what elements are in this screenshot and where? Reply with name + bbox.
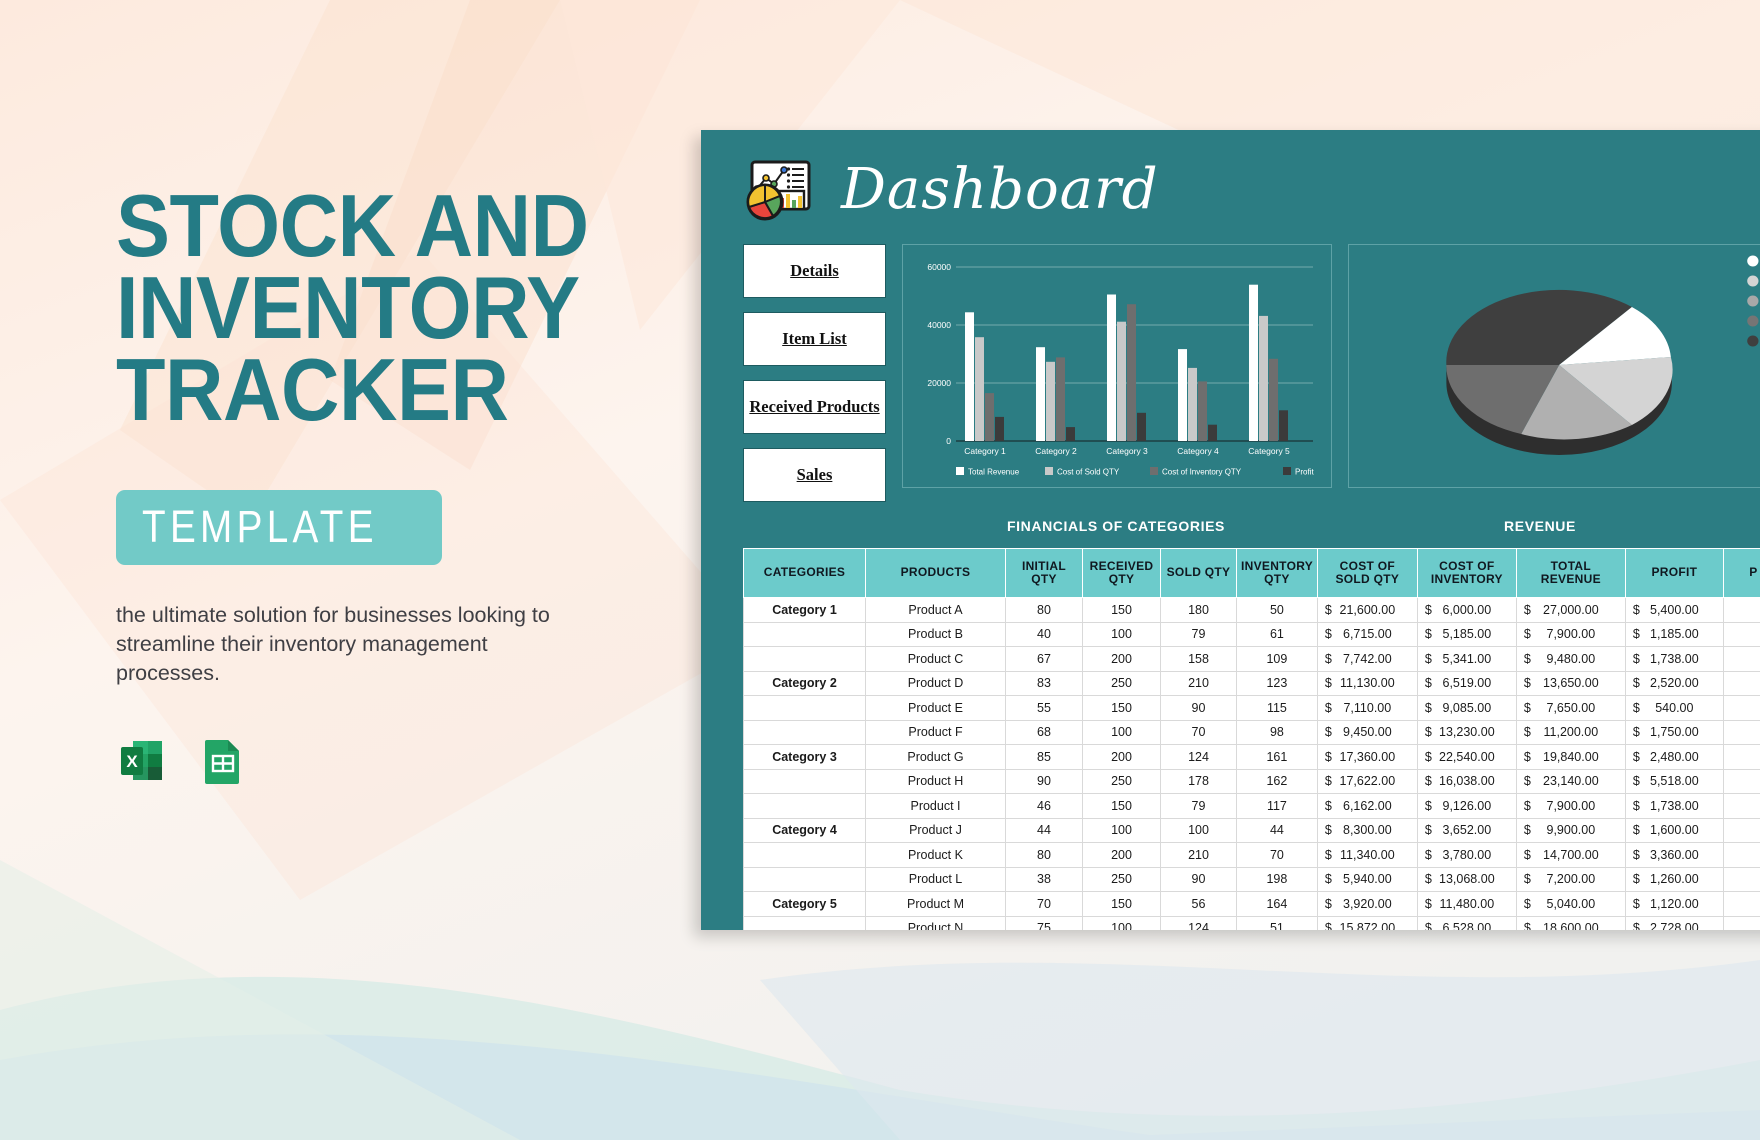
- chart-captions: FINANCIALS OF CATEGORIES REVENUE: [701, 502, 1760, 536]
- cell-sold-qty: 210: [1161, 843, 1237, 868]
- cell-received-qty: 150: [1083, 794, 1161, 819]
- dashboard-title: Dashboard: [841, 162, 1159, 218]
- cell-product: Product C: [866, 647, 1006, 672]
- cell-received-qty: 150: [1083, 598, 1161, 623]
- format-logos: X: [116, 735, 676, 787]
- table-row: Product K8020021070$11,340.00$3,780.00$1…: [744, 843, 1760, 868]
- cell-received-qty: 200: [1083, 843, 1161, 868]
- svg-text:Category 3: Category 3: [1106, 446, 1148, 456]
- cell-initial-qty: 46: [1006, 794, 1083, 819]
- cell-profit: $1,120.00: [1625, 892, 1723, 917]
- cell-sold-qty: 70: [1161, 720, 1237, 745]
- col-cost-of-sold-qty: COST OF SOLD QTY: [1317, 549, 1417, 598]
- cell-cost-of-inventory: $9,085.00: [1417, 696, 1516, 721]
- cell-inventory-qty: 162: [1237, 769, 1318, 794]
- cell-cost-of-sold-qty: $21,600.00: [1317, 598, 1417, 623]
- cell-profit: $1,750.00: [1625, 720, 1723, 745]
- cell-initial-qty: 40: [1006, 622, 1083, 647]
- cell-partial: [1723, 622, 1760, 647]
- col-sold-qty: SOLD QTY: [1161, 549, 1237, 598]
- cell-total-revenue: $23,140.00: [1516, 769, 1625, 794]
- svg-text:40000: 40000: [927, 320, 951, 330]
- cell-initial-qty: 67: [1006, 647, 1083, 672]
- cell-category: [744, 867, 866, 892]
- cell-total-revenue: $7,900.00: [1516, 622, 1625, 647]
- cell-cost-of-sold-qty: $9,450.00: [1317, 720, 1417, 745]
- cell-partial: [1723, 843, 1760, 868]
- svg-text:Total Revenue: Total Revenue: [968, 468, 1020, 477]
- cell-sold-qty: 90: [1161, 696, 1237, 721]
- cell-inventory-qty: 44: [1237, 818, 1318, 843]
- svg-text:Profit: Profit: [1295, 468, 1314, 477]
- cell-category: [744, 843, 866, 868]
- cell-initial-qty: 90: [1006, 769, 1083, 794]
- cell-inventory-qty: 51: [1237, 916, 1318, 930]
- cell-received-qty: 150: [1083, 892, 1161, 917]
- cell-profit: $1,600.00: [1625, 818, 1723, 843]
- cell-cost-of-inventory: $5,341.00: [1417, 647, 1516, 672]
- table-row: Product C67200158109$7,742.00$5,341.00$9…: [744, 647, 1760, 672]
- cell-cost-of-inventory: $11,480.00: [1417, 892, 1516, 917]
- cell-profit: $1,738.00: [1625, 794, 1723, 819]
- cell-sold-qty: 124: [1161, 745, 1237, 770]
- cell-sold-qty: 158: [1161, 647, 1237, 672]
- cell-profit: $1,185.00: [1625, 622, 1723, 647]
- cell-category: [744, 647, 866, 672]
- col-partial: P: [1723, 549, 1760, 598]
- page-title-line-3: TRACKER: [116, 340, 509, 439]
- cell-total-revenue: $19,840.00: [1516, 745, 1625, 770]
- nav-button-received-products[interactable]: Received Products: [743, 380, 886, 434]
- cell-product: Product B: [866, 622, 1006, 647]
- cell-sold-qty: 100: [1161, 818, 1237, 843]
- cell-partial: [1723, 696, 1760, 721]
- cell-inventory-qty: 50: [1237, 598, 1318, 623]
- cell-partial: [1723, 598, 1760, 623]
- cell-category: Category 3: [744, 745, 866, 770]
- cell-total-revenue: $14,700.00: [1516, 843, 1625, 868]
- col-profit: PROFIT: [1625, 549, 1723, 598]
- svg-text:Category 2: Category 2: [1035, 446, 1077, 456]
- cell-partial: [1723, 916, 1760, 930]
- cell-cost-of-sold-qty: $3,920.00: [1317, 892, 1417, 917]
- cell-total-revenue: $7,200.00: [1516, 867, 1625, 892]
- cell-sold-qty: 124: [1161, 916, 1237, 930]
- cell-cost-of-sold-qty: $15,872.00: [1317, 916, 1417, 930]
- cell-cost-of-sold-qty: $5,940.00: [1317, 867, 1417, 892]
- cell-initial-qty: 85: [1006, 745, 1083, 770]
- cell-inventory-qty: 164: [1237, 892, 1318, 917]
- cell-initial-qty: 68: [1006, 720, 1083, 745]
- cell-total-revenue: $7,650.00: [1516, 696, 1625, 721]
- col-total-revenue: TOTAL REVENUE: [1516, 549, 1625, 598]
- cell-cost-of-sold-qty: $7,110.00: [1317, 696, 1417, 721]
- cell-cost-of-inventory: $22,540.00: [1417, 745, 1516, 770]
- svg-text:Category 5: Category 5: [1248, 446, 1290, 456]
- table-row: Category 4Product J4410010044$8,300.00$3…: [744, 818, 1760, 843]
- cell-received-qty: 250: [1083, 769, 1161, 794]
- cell-cost-of-inventory: $6,000.00: [1417, 598, 1516, 623]
- cell-inventory-qty: 115: [1237, 696, 1318, 721]
- cell-total-revenue: $13,650.00: [1516, 671, 1625, 696]
- bar-chart: 60000 40000 20000 0: [903, 245, 1331, 487]
- cell-received-qty: 250: [1083, 867, 1161, 892]
- cell-category: Category 2: [744, 671, 866, 696]
- bar-chart-panel: 60000 40000 20000 0: [902, 244, 1332, 488]
- pie-chart-panel: Ca Ca Ca Ca Ca: [1348, 244, 1760, 488]
- cell-received-qty: 250: [1083, 671, 1161, 696]
- cell-cost-of-sold-qty: $6,715.00: [1317, 622, 1417, 647]
- table-body: Category 1Product A8015018050$21,600.00$…: [744, 598, 1760, 931]
- cell-received-qty: 100: [1083, 622, 1161, 647]
- cell-category: [744, 769, 866, 794]
- col-products: PRODUCTS: [866, 549, 1006, 598]
- cell-category: Category 4: [744, 818, 866, 843]
- cell-cost-of-sold-qty: $17,360.00: [1317, 745, 1417, 770]
- dashboard-analytics-icon: [743, 156, 815, 224]
- cell-partial: [1723, 794, 1760, 819]
- cell-total-revenue: $27,000.00: [1516, 598, 1625, 623]
- cell-initial-qty: 80: [1006, 843, 1083, 868]
- cell-total-revenue: $9,480.00: [1516, 647, 1625, 672]
- cell-product: Product D: [866, 671, 1006, 696]
- cell-partial: [1723, 720, 1760, 745]
- nav-button-sales[interactable]: Sales: [743, 448, 886, 502]
- cell-profit: $2,520.00: [1625, 671, 1723, 696]
- cell-product: Product G: [866, 745, 1006, 770]
- cell-cost-of-sold-qty: $6,162.00: [1317, 794, 1417, 819]
- table-row: Product H90250178162$17,622.00$16,038.00…: [744, 769, 1760, 794]
- dashboard-card: Dashboard Details Item List Received Pro…: [701, 130, 1760, 930]
- table-row: Product F681007098$9,450.00$13,230.00$11…: [744, 720, 1760, 745]
- cell-cost-of-inventory: $16,038.00: [1417, 769, 1516, 794]
- table-row: Product I4615079117$6,162.00$9,126.00$7,…: [744, 794, 1760, 819]
- dashboard-nav: Details Item List Received Products Sale…: [743, 244, 886, 502]
- cell-initial-qty: 38: [1006, 867, 1083, 892]
- cell-product: Product H: [866, 769, 1006, 794]
- excel-icon: X: [116, 735, 168, 787]
- cell-received-qty: 150: [1083, 696, 1161, 721]
- cell-partial: [1723, 867, 1760, 892]
- cell-profit: $2,480.00: [1625, 745, 1723, 770]
- cell-profit: $3,360.00: [1625, 843, 1723, 868]
- cell-cost-of-sold-qty: $11,130.00: [1317, 671, 1417, 696]
- cell-cost-of-sold-qty: $11,340.00: [1317, 843, 1417, 868]
- col-cost-of-inventory: COST OF INVENTORY: [1417, 549, 1516, 598]
- cell-sold-qty: 90: [1161, 867, 1237, 892]
- cell-received-qty: 200: [1083, 745, 1161, 770]
- cell-cost-of-inventory: $13,230.00: [1417, 720, 1516, 745]
- cell-total-revenue: $5,040.00: [1516, 892, 1625, 917]
- cell-total-revenue: $18,600.00: [1516, 916, 1625, 930]
- template-badge: TEMPLATE: [116, 490, 442, 565]
- cell-product: Product L: [866, 867, 1006, 892]
- page-title: STOCK AND INVENTORY TRACKER: [116, 185, 631, 430]
- cell-inventory-qty: 61: [1237, 622, 1318, 647]
- table-header-row: CATEGORIES PRODUCTS INITIAL QTY RECEIVED…: [744, 549, 1760, 598]
- cell-partial: [1723, 647, 1760, 672]
- cell-received-qty: 100: [1083, 720, 1161, 745]
- cell-partial: [1723, 745, 1760, 770]
- svg-text:Cost of Sold QTY: Cost of Sold QTY: [1057, 468, 1120, 477]
- cell-product: Product A: [866, 598, 1006, 623]
- cell-sold-qty: 56: [1161, 892, 1237, 917]
- cell-category: [744, 720, 866, 745]
- cell-sold-qty: 210: [1161, 671, 1237, 696]
- cell-sold-qty: 180: [1161, 598, 1237, 623]
- cell-cost-of-inventory: $6,519.00: [1417, 671, 1516, 696]
- cell-profit: $1,260.00: [1625, 867, 1723, 892]
- cell-inventory-qty: 123: [1237, 671, 1318, 696]
- cell-cost-of-inventory: $13,068.00: [1417, 867, 1516, 892]
- cell-inventory-qty: 109: [1237, 647, 1318, 672]
- nav-button-item-list[interactable]: Item List: [743, 312, 886, 366]
- cell-partial: [1723, 769, 1760, 794]
- cell-inventory-qty: 117: [1237, 794, 1318, 819]
- inventory-table: CATEGORIES PRODUCTS INITIAL QTY RECEIVED…: [743, 548, 1760, 930]
- cell-inventory-qty: 198: [1237, 867, 1318, 892]
- table-row: Category 3Product G85200124161$17,360.00…: [744, 745, 1760, 770]
- bar-chart-caption: FINANCIALS OF CATEGORIES: [1007, 518, 1225, 534]
- cell-cost-of-sold-qty: $17,622.00: [1317, 769, 1417, 794]
- cell-partial: [1723, 671, 1760, 696]
- cell-cost-of-inventory: $9,126.00: [1417, 794, 1516, 819]
- cell-initial-qty: 70: [1006, 892, 1083, 917]
- col-initial-qty: INITIAL QTY: [1006, 549, 1083, 598]
- col-inventory-qty: INVENTORY QTY: [1237, 549, 1318, 598]
- pie-chart: Ca Ca Ca Ca Ca: [1349, 245, 1760, 487]
- cell-sold-qty: 79: [1161, 794, 1237, 819]
- cell-total-revenue: $11,200.00: [1516, 720, 1625, 745]
- cell-product: Product N: [866, 916, 1006, 930]
- cell-cost-of-inventory: $6,528.00: [1417, 916, 1516, 930]
- cell-total-revenue: $9,900.00: [1516, 818, 1625, 843]
- cell-category: [744, 916, 866, 930]
- dashboard-header: Dashboard: [701, 130, 1760, 224]
- cell-profit: $1,738.00: [1625, 647, 1723, 672]
- cell-category: [744, 794, 866, 819]
- svg-text:Category 4: Category 4: [1177, 446, 1219, 456]
- cell-cost-of-inventory: $5,185.00: [1417, 622, 1516, 647]
- table-row: Category 1Product A8015018050$21,600.00$…: [744, 598, 1760, 623]
- cell-inventory-qty: 98: [1237, 720, 1318, 745]
- svg-text:X: X: [126, 752, 138, 771]
- svg-text:Cost of Inventory QTY: Cost of Inventory QTY: [1162, 468, 1242, 477]
- cell-received-qty: 100: [1083, 916, 1161, 930]
- cell-profit: $5,400.00: [1625, 598, 1723, 623]
- cell-product: Product I: [866, 794, 1006, 819]
- nav-button-sales-label: Sales: [797, 465, 833, 485]
- template-badge-label: TEMPLATE: [142, 504, 378, 549]
- cell-category: [744, 696, 866, 721]
- table-row: Product E5515090115$7,110.00$9,085.00$7,…: [744, 696, 1760, 721]
- cell-partial: [1723, 818, 1760, 843]
- pie-legend: Ca Ca Ca Ca Ca: [1747, 256, 1760, 347]
- cell-cost-of-sold-qty: $7,742.00: [1317, 647, 1417, 672]
- cell-sold-qty: 79: [1161, 622, 1237, 647]
- cell-profit: $5,518.00: [1625, 769, 1723, 794]
- cell-inventory-qty: 161: [1237, 745, 1318, 770]
- svg-text:Category 1: Category 1: [964, 446, 1006, 456]
- table-row: Product L3825090198$5,940.00$13,068.00$7…: [744, 867, 1760, 892]
- cell-cost-of-sold-qty: $8,300.00: [1317, 818, 1417, 843]
- pie-chart-caption: REVENUE: [1504, 518, 1576, 534]
- cell-initial-qty: 80: [1006, 598, 1083, 623]
- cell-product: Product M: [866, 892, 1006, 917]
- cell-product: Product E: [866, 696, 1006, 721]
- cell-profit: $2,728.00: [1625, 916, 1723, 930]
- cell-received-qty: 100: [1083, 818, 1161, 843]
- nav-button-item-list-label: Item List: [782, 329, 847, 349]
- col-categories: CATEGORIES: [744, 549, 866, 598]
- cell-product: Product F: [866, 720, 1006, 745]
- nav-button-details[interactable]: Details: [743, 244, 886, 298]
- cell-category: Category 5: [744, 892, 866, 917]
- cell-cost-of-inventory: $3,652.00: [1417, 818, 1516, 843]
- svg-text:60000: 60000: [927, 262, 951, 272]
- svg-text:20000: 20000: [927, 378, 951, 388]
- col-received-qty: RECEIVED QTY: [1083, 549, 1161, 598]
- promo-column: STOCK AND INVENTORY TRACKER TEMPLATE the…: [116, 185, 676, 787]
- nav-button-received-products-label: Received Products: [749, 397, 879, 417]
- table-row: Category 2Product D83250210123$11,130.00…: [744, 671, 1760, 696]
- cell-total-revenue: $7,900.00: [1516, 794, 1625, 819]
- cell-partial: [1723, 892, 1760, 917]
- cell-sold-qty: 178: [1161, 769, 1237, 794]
- cell-inventory-qty: 70: [1237, 843, 1318, 868]
- table-row: Product B401007961$6,715.00$5,185.00$7,9…: [744, 622, 1760, 647]
- cell-product: Product J: [866, 818, 1006, 843]
- cell-profit: $540.00: [1625, 696, 1723, 721]
- inventory-table-wrap: CATEGORIES PRODUCTS INITIAL QTY RECEIVED…: [701, 536, 1760, 930]
- cell-initial-qty: 44: [1006, 818, 1083, 843]
- cell-category: Category 1: [744, 598, 866, 623]
- cell-initial-qty: 83: [1006, 671, 1083, 696]
- nav-button-details-label: Details: [790, 261, 839, 281]
- table-row: Product N7510012451$15,872.00$6,528.00$1…: [744, 916, 1760, 930]
- cell-received-qty: 200: [1083, 647, 1161, 672]
- cell-category: [744, 622, 866, 647]
- promo-description: the ultimate solution for businesses loo…: [116, 601, 586, 687]
- cell-cost-of-inventory: $3,780.00: [1417, 843, 1516, 868]
- google-sheets-icon: [196, 735, 248, 787]
- svg-text:0: 0: [946, 436, 951, 446]
- cell-product: Product K: [866, 843, 1006, 868]
- cell-initial-qty: 55: [1006, 696, 1083, 721]
- cell-initial-qty: 75: [1006, 916, 1083, 930]
- table-row: Category 5Product M7015056164$3,920.00$1…: [744, 892, 1760, 917]
